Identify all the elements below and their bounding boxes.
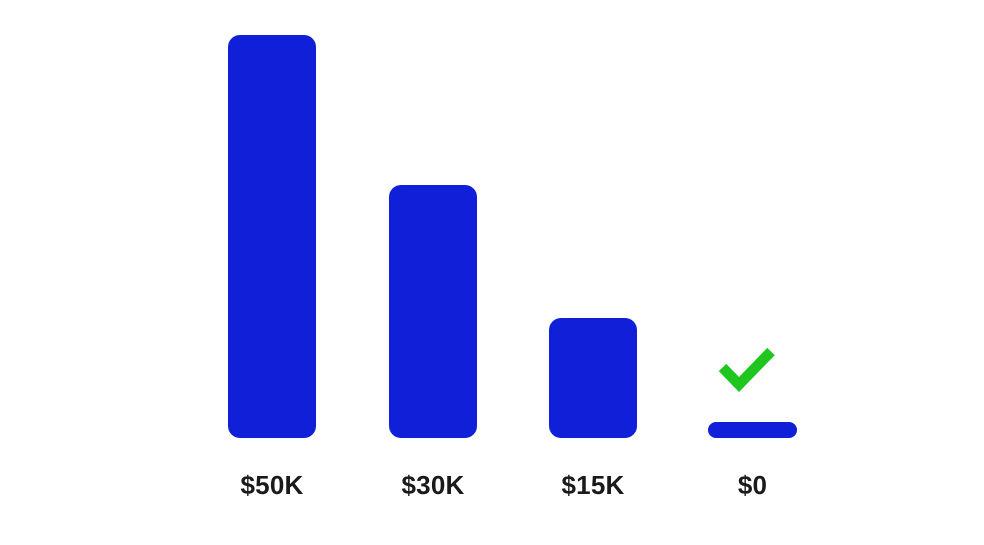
- bar-label-15k: $15K: [562, 470, 625, 501]
- bar-0[interactable]: [708, 422, 797, 438]
- bar-50k[interactable]: [228, 35, 316, 438]
- plot-area: $50K $30K $15K $0: [0, 0, 984, 545]
- bar-30k[interactable]: [389, 185, 477, 438]
- bar-15k[interactable]: [549, 318, 637, 438]
- bar-chart: $50K $30K $15K $0: [0, 0, 984, 545]
- bar-label-30k: $30K: [402, 470, 465, 501]
- bar-label-50k: $50K: [241, 470, 304, 501]
- check-icon-glyph: [718, 346, 776, 392]
- bar-label-0: $0: [738, 470, 767, 501]
- check-icon: [718, 346, 776, 392]
